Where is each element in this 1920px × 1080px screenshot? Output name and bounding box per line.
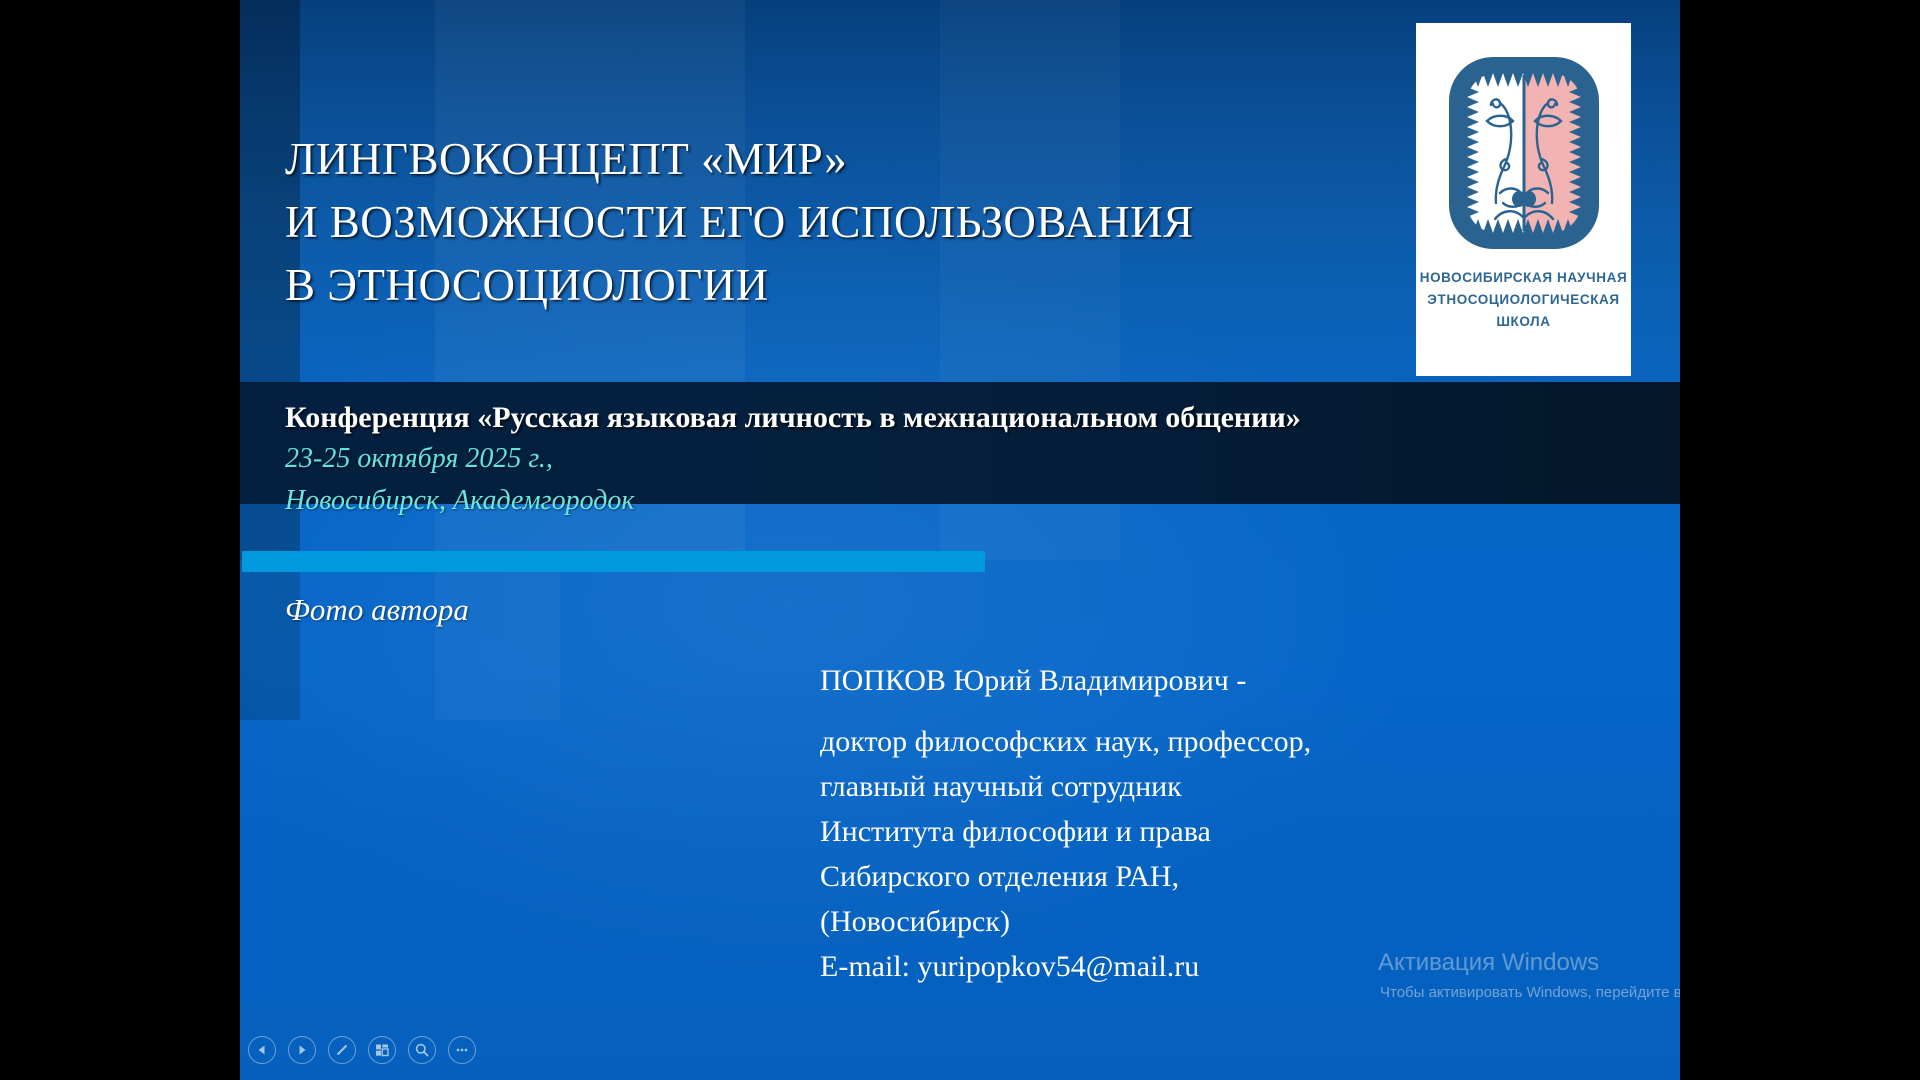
title-line-2: И ВОЗМОЖНОСТИ ЕГО ИСПОЛЬЗОВАНИЯ [285,191,1465,254]
author-line-2: главный научный сотрудник [820,764,1580,809]
organization-logo-card: НОВОСИБИРСКАЯ НАУЧНАЯ ЭТНОСОЦИОЛОГИЧЕСКА… [1416,23,1631,376]
pen-icon [334,1042,350,1058]
organization-logo-text: НОВОСИБИРСКАЯ НАУЧНАЯ ЭТНОСОЦИОЛОГИЧЕСКА… [1416,267,1631,333]
author-info: ПОПКОВ Юрий Владимирович - доктор филосо… [820,659,1580,989]
triangle-right-icon [295,1043,309,1057]
conference-info: Конференция «Русская языковая личность в… [285,398,1585,522]
grid-slides-icon [374,1042,390,1058]
next-slide-button[interactable] [288,1036,316,1064]
author-line-5: (Новосибирск) [820,899,1580,944]
author-name: ПОПКОВ Юрий Владимирович - [820,659,1580,703]
slide-title: ЛИНГВОКОНЦЕПТ «МИР» И ВОЗМОЖНОСТИ ЕГО ИС… [285,128,1465,317]
accent-bar [242,551,985,572]
more-options-button[interactable] [448,1036,476,1064]
title-line-1: ЛИНГВОКОНЦЕПТ «МИР» [285,128,1465,191]
conference-place: Новосибирск, Академгородок [285,480,1585,522]
two-faces-mask-logo-icon [1445,53,1603,253]
author-line-4: Сибирского отделения РАН, [820,854,1580,899]
zoom-button[interactable] [408,1036,436,1064]
magnifier-icon [414,1042,430,1058]
triangle-left-icon [255,1043,269,1057]
presentation-viewer: ЛИНГВОКОНЦЕПТ «МИР» И ВОЗМОЖНОСТИ ЕГО ИС… [0,0,1920,1080]
logo-text-line-1: НОВОСИБИРСКАЯ НАУЧНАЯ [1416,267,1631,289]
author-line-3: Института философии и права [820,809,1580,854]
logo-text-line-2: ЭТНОСОЦИОЛОГИЧЕСКАЯ [1416,289,1631,311]
ellipsis-icon [454,1042,470,1058]
pen-tool-button[interactable] [328,1036,356,1064]
conference-title: Конференция «Русская языковая личность в… [285,398,1585,438]
title-line-3: В ЭТНОСОЦИОЛОГИИ [285,254,1465,317]
previous-slide-button[interactable] [248,1036,276,1064]
author-line-1: доктор философских наук, профессор, [820,719,1580,764]
photo-placeholder-caption: Фото автора [285,592,469,628]
all-slides-button[interactable] [368,1036,396,1064]
author-email: E-mail: yuripopkov54@mail.ru [820,944,1580,989]
slideshow-toolbar [248,1036,476,1064]
conference-date: 23-25 октября 2025 г., [285,438,1585,480]
slide-canvas[interactable]: ЛИНГВОКОНЦЕПТ «МИР» И ВОЗМОЖНОСТИ ЕГО ИС… [240,0,1680,1080]
logo-text-line-3: ШКОЛА [1416,311,1631,333]
